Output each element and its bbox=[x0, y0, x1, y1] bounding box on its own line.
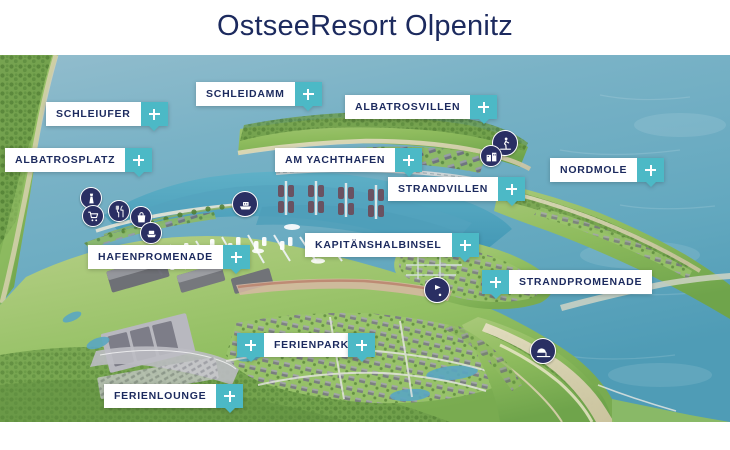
hotspot-schleidamm[interactable]: SCHLEIDAMM bbox=[196, 82, 322, 106]
plus-icon-strandpromenade[interactable] bbox=[482, 270, 509, 294]
hotspot-ferienpark-right[interactable] bbox=[348, 333, 375, 357]
resort-aerial-map[interactable]: SCHLEIUFER SCHLEIDAMM ALBATROSVILLEN ALB… bbox=[0, 55, 730, 422]
hotspot-nordmole[interactable]: NORDMOLE bbox=[550, 158, 664, 182]
shopping-cart-icon bbox=[87, 210, 100, 223]
hotspot-label-am-yachthafen: AM YACHTHAFEN bbox=[275, 148, 395, 172]
hotspot-strandpromenade[interactable]: STRANDPROMENADE bbox=[482, 270, 652, 294]
page-title: OstseeResort Olpenitz bbox=[0, 2, 730, 50]
hotspot-label-ferienpark: FERIENPARK bbox=[264, 333, 359, 357]
golf-icon bbox=[430, 283, 445, 298]
resort-map-page: OstseeResort Olpenitz bbox=[0, 0, 730, 450]
hotspot-ferienlounge[interactable]: FERIENLOUNGE bbox=[104, 384, 243, 408]
hotspot-strandvillen[interactable]: STRANDVILLEN bbox=[388, 177, 525, 201]
hotspot-hafenpromenade[interactable]: HAFENPROMENADE bbox=[88, 245, 250, 269]
plus-icon-schleiufer[interactable] bbox=[141, 102, 168, 126]
hotspot-label-kapitaenshalbinsel: KAPITÄNSHALBINSEL bbox=[305, 233, 452, 257]
poi-building[interactable] bbox=[480, 145, 502, 167]
restaurant-icon bbox=[113, 205, 126, 218]
hotspot-label-strandvillen: STRANDVILLEN bbox=[388, 177, 498, 201]
poi-restaurant[interactable] bbox=[108, 200, 130, 222]
hotspot-ferienpark-left[interactable]: FERIENPARK bbox=[237, 333, 359, 357]
plus-icon-hafenpromenade[interactable] bbox=[223, 245, 250, 269]
plus-icon-ferienpark-left[interactable] bbox=[237, 333, 264, 357]
hotspot-label-albatrosvillen: ALBATROSVILLEN bbox=[345, 95, 470, 119]
plus-icon-nordmole[interactable] bbox=[637, 158, 664, 182]
plus-icon-strandvillen[interactable] bbox=[498, 177, 525, 201]
lighthouse-icon bbox=[85, 192, 98, 205]
plus-icon-ferienpark-right[interactable] bbox=[348, 333, 375, 357]
poi-harbour[interactable] bbox=[232, 191, 258, 217]
hotspot-label-ferienlounge: FERIENLOUNGE bbox=[104, 384, 216, 408]
hotspot-label-strandpromenade: STRANDPROMENADE bbox=[509, 270, 652, 294]
plus-icon-kapitaenshalbinsel[interactable] bbox=[452, 233, 479, 257]
plus-icon-am-yachthafen[interactable] bbox=[395, 148, 422, 172]
poi-golf[interactable] bbox=[424, 277, 450, 303]
plus-icon-albatrosplatz[interactable] bbox=[125, 148, 152, 172]
hotspot-schleiufer[interactable]: SCHLEIUFER bbox=[46, 102, 168, 126]
boat-icon bbox=[238, 197, 253, 212]
poi-beach[interactable] bbox=[530, 338, 556, 364]
hotspot-albatrosvillen[interactable]: ALBATROSVILLEN bbox=[345, 95, 497, 119]
ferry-icon bbox=[145, 227, 158, 240]
hotspot-label-schleidamm: SCHLEIDAMM bbox=[196, 82, 295, 106]
shopping-bag-icon bbox=[135, 211, 148, 224]
hotspot-am-yachthafen[interactable]: AM YACHTHAFEN bbox=[275, 148, 422, 172]
hotspot-label-albatrosplatz: ALBATROSPLATZ bbox=[5, 148, 125, 172]
plus-icon-albatrosvillen[interactable] bbox=[470, 95, 497, 119]
hotspot-kapitaenshalbinsel[interactable]: KAPITÄNSHALBINSEL bbox=[305, 233, 479, 257]
surfer-icon bbox=[498, 136, 513, 151]
hotspot-albatrosplatz[interactable]: ALBATROSPLATZ bbox=[5, 148, 152, 172]
plus-icon-schleidamm[interactable] bbox=[295, 82, 322, 106]
plus-icon-ferienlounge[interactable] bbox=[216, 384, 243, 408]
hotspot-label-schleiufer: SCHLEIUFER bbox=[46, 102, 141, 126]
building-icon bbox=[485, 150, 498, 163]
poi-shopping[interactable] bbox=[82, 205, 104, 227]
hotspot-label-nordmole: NORDMOLE bbox=[550, 158, 637, 182]
beach-icon bbox=[536, 344, 551, 359]
poi-ferry-west[interactable] bbox=[140, 222, 162, 244]
hotspot-label-hafenpromenade: HAFENPROMENADE bbox=[88, 245, 223, 269]
